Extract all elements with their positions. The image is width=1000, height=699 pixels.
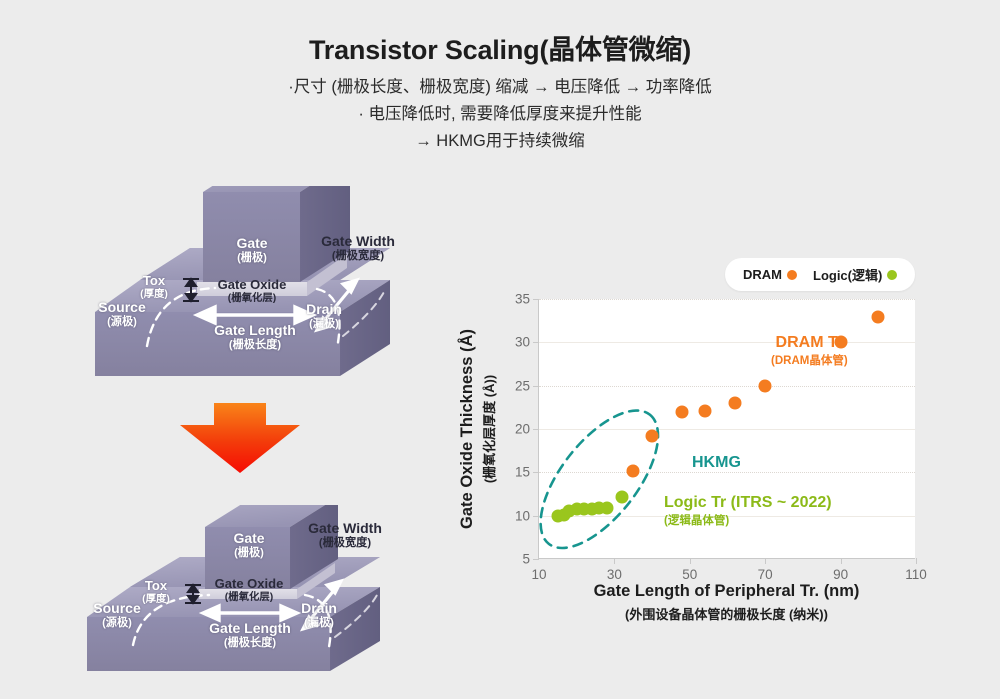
y-tick-label-15: 15 <box>515 465 530 480</box>
x-tick-label-110: 110 <box>905 567 927 582</box>
x-tick-label-50: 50 <box>682 567 697 582</box>
transistor-3d-before <box>85 186 425 401</box>
annotation-logic: Logic Tr (ITRS ~ 2022)(逻辑晶体管) <box>664 494 832 528</box>
subtitle-line-3: → HKMG用于持续微缩 <box>0 128 1000 155</box>
y-tickmark-20 <box>533 429 539 430</box>
legend-label-logic: Logic(逻辑) <box>813 265 882 284</box>
x-axis-label-main: Gate Length of Peripheral Tr. (nm) <box>538 582 915 601</box>
down-arrow-icon <box>170 403 310 483</box>
chart-legend: DRAM Logic(逻辑) <box>725 258 915 291</box>
y-tickmark-30 <box>533 342 539 343</box>
subtitle-block: ·尺寸 (栅极长度、栅极宽度) 缩减 → 电压降低 → 功率降低 · 电压降低时… <box>0 74 1000 155</box>
y-tick-label-20: 20 <box>515 422 530 437</box>
y-tick-label-30: 30 <box>515 335 530 350</box>
legend-item-dram: DRAM <box>743 267 797 282</box>
y-axis-label-sub: (栅氧化层厚度 (Å)) <box>479 329 498 529</box>
x-axis-label: Gate Length of Peripheral Tr. (nm) (外围设备… <box>538 582 915 623</box>
transistor-3d-after <box>85 505 425 680</box>
x-tick-label-30: 30 <box>607 567 622 582</box>
subtitle-line-2: · 电压降低时, 需要降低厚度来提升性能 <box>0 101 1000 128</box>
x-tickmark-50 <box>690 558 691 564</box>
x-tick-label-90: 90 <box>833 567 848 582</box>
page-title: Transistor Scaling(晶体管微缩) <box>0 28 1000 67</box>
x-tick-label-10: 10 <box>531 567 546 582</box>
data-point-dram-7 <box>872 311 885 324</box>
scatter-chart: DRAM Logic(逻辑) Gate Oxide Thickness (Å) … <box>445 250 945 640</box>
y-tick-label-10: 10 <box>515 508 530 523</box>
legend-dot-logic <box>887 270 897 280</box>
legend-label-dram: DRAM <box>743 267 782 282</box>
y-axis-label-main: Gate Oxide Thickness (Å) <box>458 329 477 529</box>
y-tick-label-25: 25 <box>515 378 530 393</box>
legend-item-logic: Logic(逻辑) <box>813 265 897 284</box>
data-point-dram-3 <box>698 404 711 417</box>
y-tick-label-5: 5 <box>522 552 530 567</box>
gridline-y-20 <box>539 429 915 430</box>
data-point-dram-2 <box>676 405 689 418</box>
transistor-diagram-before: Gate (栅极) Gate Oxide (栅氧化层) Gate Width (… <box>85 186 425 401</box>
scaling-arrow <box>170 403 310 483</box>
x-axis-label-sub: (外围设备晶体管的栅极长度 (纳米)) <box>538 604 915 623</box>
subtitle-line-1: ·尺寸 (栅极长度、栅极宽度) 缩减 → 电压降低 → 功率降低 <box>0 74 1000 101</box>
slide-root: Transistor Scaling(晶体管微缩) ·尺寸 (栅极长度、栅极宽度… <box>0 0 1000 699</box>
y-tickmark-5 <box>533 559 539 560</box>
gridline-y-10 <box>539 516 915 517</box>
x-tick-label-70: 70 <box>758 567 773 582</box>
data-point-dram-0 <box>627 465 640 478</box>
gridline-y-30 <box>539 342 915 343</box>
data-point-dram-1 <box>646 429 659 442</box>
data-point-logic-7 <box>600 501 613 514</box>
y-tickmark-15 <box>533 472 539 473</box>
transistor-diagram-after: Gate (栅极) Gate Oxide (栅氧化层) Gate Width (… <box>85 505 425 680</box>
annotation-dram-sub: (DRAM晶体管) <box>771 352 848 368</box>
gridline-y-35 <box>539 299 915 300</box>
data-point-dram-6 <box>834 336 847 349</box>
y-axis-label: Gate Oxide Thickness (Å) (栅氧化层厚度 (Å)) <box>447 299 509 559</box>
x-tickmark-110 <box>916 558 917 564</box>
annotation-hkmg: HKMG <box>692 454 741 472</box>
data-point-dram-4 <box>729 397 742 410</box>
x-tickmark-70 <box>765 558 766 564</box>
x-tickmark-30 <box>614 558 615 564</box>
legend-dot-dram <box>787 270 797 280</box>
annotation-logic-sub: (逻辑晶体管) <box>664 512 832 528</box>
data-point-dram-5 <box>759 379 772 392</box>
plot-area: 51015202530351030507090110DRAM Tr(DRAM晶体… <box>538 299 915 559</box>
y-tickmark-35 <box>533 299 539 300</box>
annotation-logic-main: Logic Tr (ITRS ~ 2022) <box>664 494 832 512</box>
y-tick-label-35: 35 <box>515 292 530 307</box>
data-point-logic-8 <box>615 491 628 504</box>
y-tickmark-25 <box>533 386 539 387</box>
y-tickmark-10 <box>533 516 539 517</box>
gridline-y-25 <box>539 386 915 387</box>
gridline-y-15 <box>539 472 915 473</box>
x-tickmark-90 <box>841 558 842 564</box>
